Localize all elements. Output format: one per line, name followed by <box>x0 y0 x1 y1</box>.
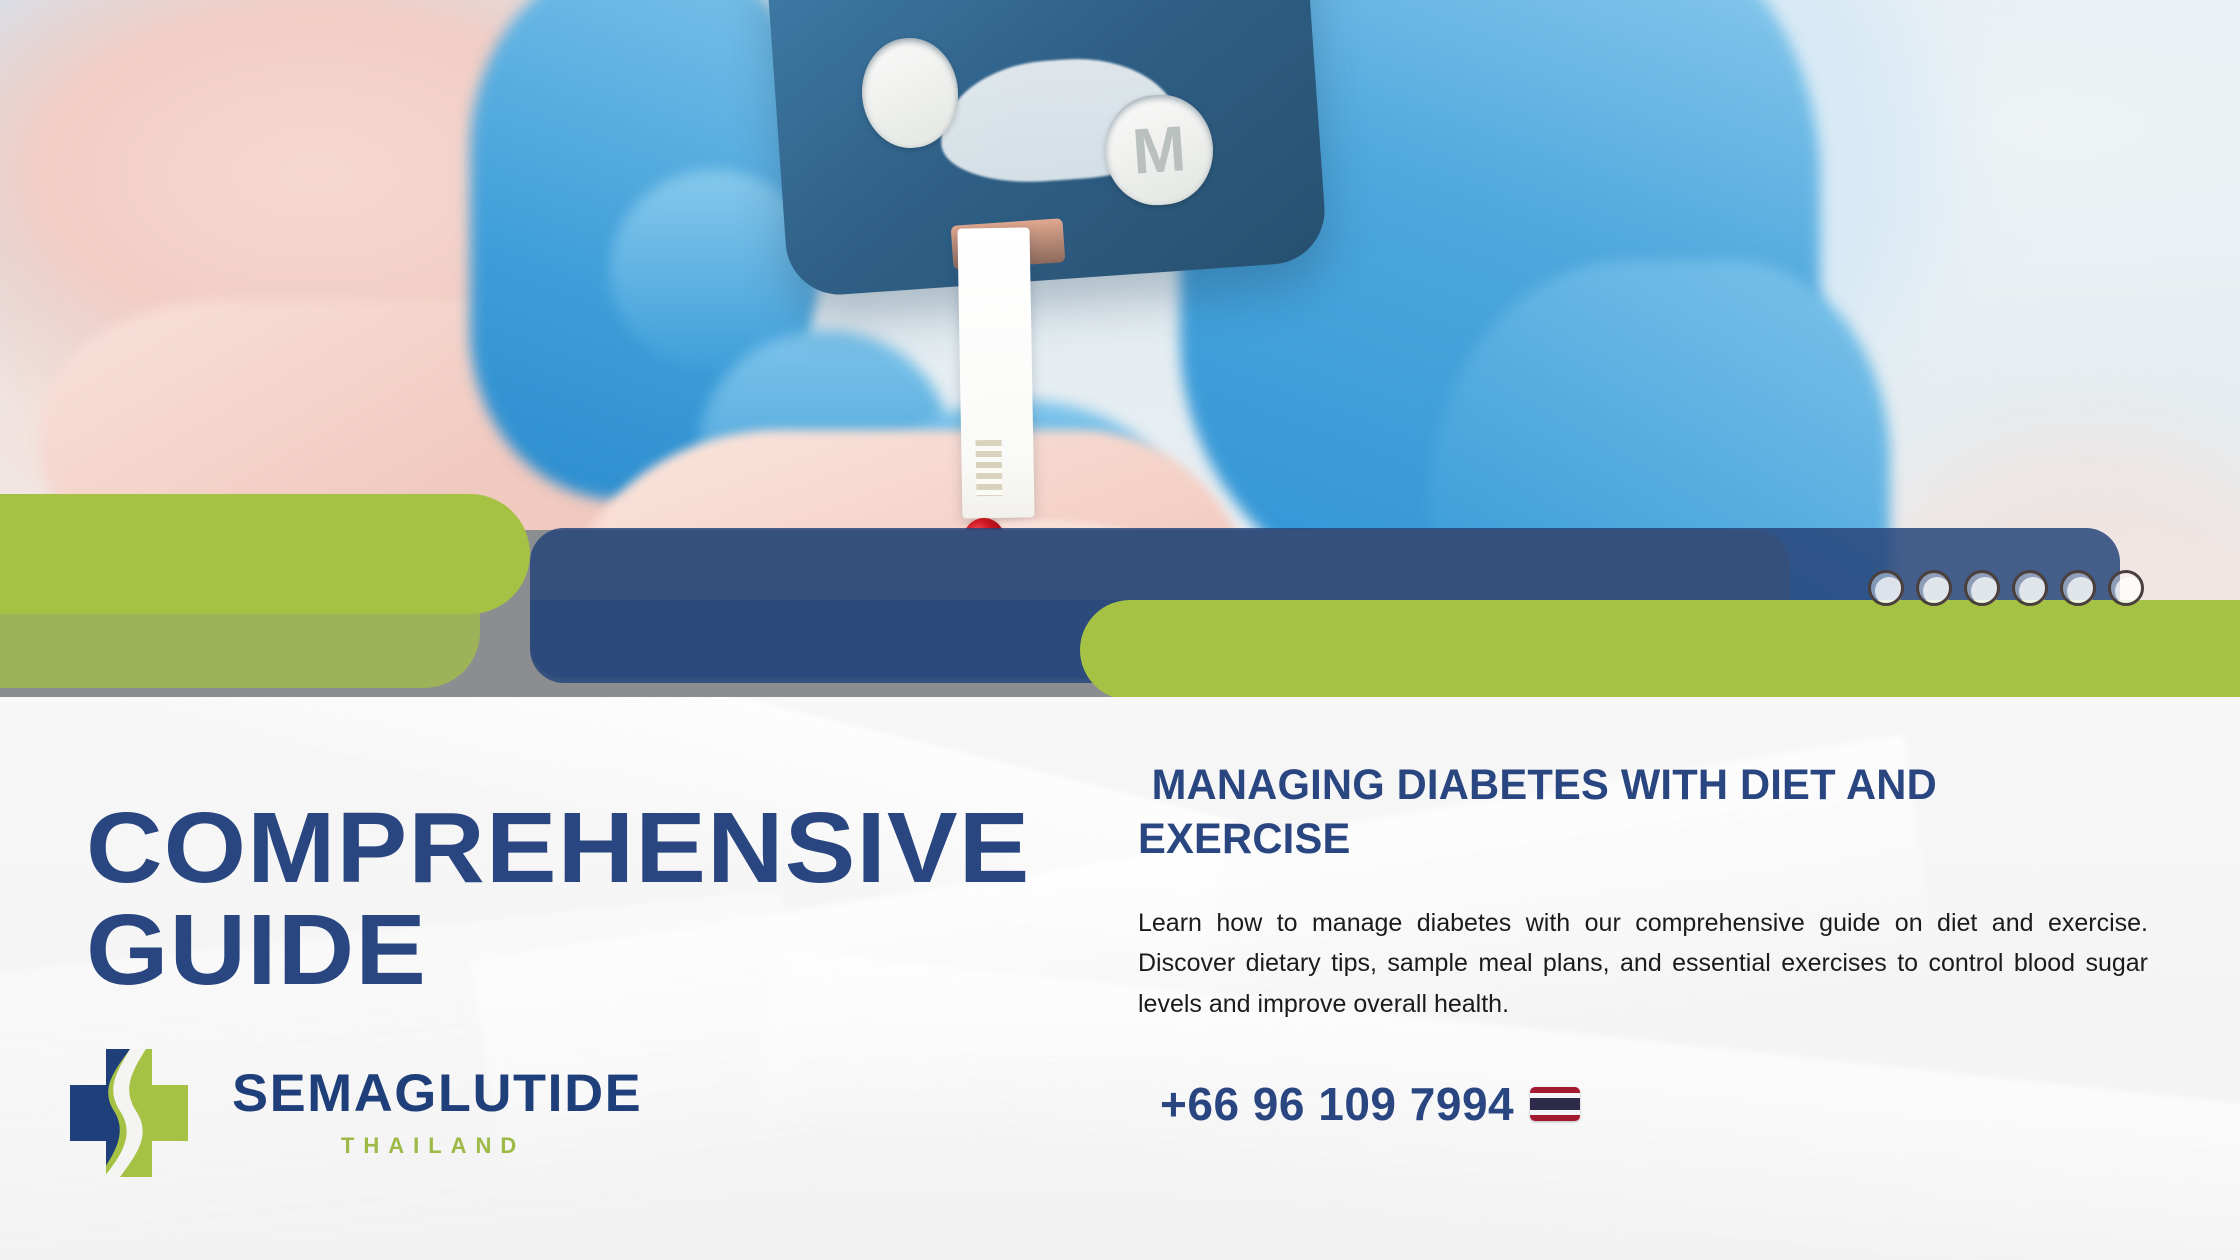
logo-cross-icon <box>70 1049 188 1177</box>
logo-wordmark: SEMAGLUTIDE <box>232 1067 642 1120</box>
promo-banner: M COMPREHENSIVE GUIDE <box>0 0 2240 1260</box>
carousel-dot-1[interactable] <box>1868 570 1904 606</box>
logo-wordmark-block: SEMAGLUTIDE THAILAND <box>232 1067 634 1159</box>
logo-tagline: THAILAND <box>341 1133 525 1159</box>
band-green-right <box>1080 600 2240 700</box>
carousel-dots[interactable] <box>1868 570 2144 606</box>
section-subtitle: MANAGING DIABETES WITH DIET AND EXERCISE <box>1138 759 2118 867</box>
thailand-flag-icon <box>1530 1087 1580 1121</box>
dot-ring <box>1868 570 1904 606</box>
section-subtitle-text: MANAGING DIABETES WITH DIET AND EXERCISE <box>1138 761 1937 863</box>
page-title: COMPREHENSIVE GUIDE <box>86 797 1135 1001</box>
description-block: MANAGING DIABETES WITH DIET AND EXERCISE… <box>1138 759 2148 1024</box>
headline-line-1: COMPREHENSIVE <box>86 792 1030 904</box>
dot-ring <box>2012 570 2048 606</box>
headline-block: COMPREHENSIVE GUIDE <box>86 797 1076 1001</box>
carousel-dot-2[interactable] <box>1916 570 1952 606</box>
brand-logo[interactable]: SEMAGLUTIDE THAILAND <box>70 1049 634 1177</box>
carousel-dot-3[interactable] <box>1964 570 2000 606</box>
dot-ring <box>2108 570 2144 606</box>
phone-number[interactable]: +66 96 109 7994 <box>1160 1077 1514 1131</box>
band-green-left-bottom <box>0 560 480 688</box>
body-paragraph: Learn how to manage diabetes with our co… <box>1138 903 2148 1025</box>
carousel-dot-5[interactable] <box>2060 570 2096 606</box>
carousel-dot-6[interactable] <box>2108 570 2144 606</box>
dot-ring <box>1964 570 2000 606</box>
headline-line-2: GUIDE <box>86 894 427 1006</box>
content-section: COMPREHENSIVE GUIDE SEMAGLUTIDE T <box>0 697 2240 1260</box>
dot-ring <box>2060 570 2096 606</box>
carousel-dot-4[interactable] <box>2012 570 2048 606</box>
dot-ring <box>1916 570 1952 606</box>
contact-phone[interactable]: +66 96 109 7994 <box>1160 1077 1580 1131</box>
